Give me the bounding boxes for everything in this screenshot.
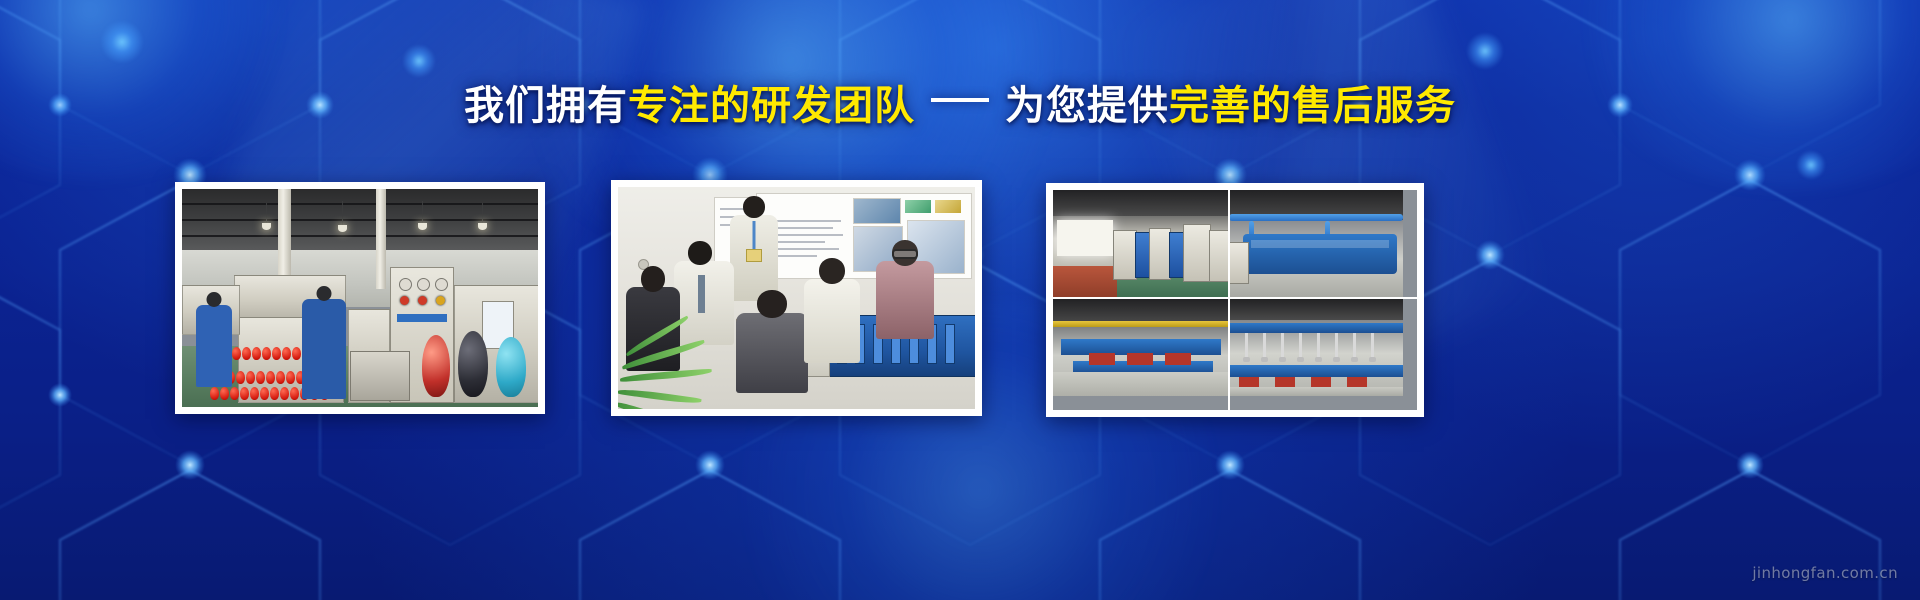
red-part xyxy=(1165,353,1191,365)
foreground-plant xyxy=(618,335,722,409)
worker-left xyxy=(196,305,232,387)
panel-knob-3 xyxy=(435,278,448,291)
spray-nozzle xyxy=(1353,333,1356,359)
panel-button-1 xyxy=(400,296,409,305)
yellow-crane-rail xyxy=(1053,321,1228,327)
roof-beam-3 xyxy=(182,235,538,237)
red-bulb xyxy=(282,347,291,360)
red-bulb xyxy=(286,371,295,384)
red-bulb xyxy=(220,387,229,400)
presenter-person xyxy=(730,215,778,301)
spray-nozzle xyxy=(1371,333,1374,359)
nozzle-head xyxy=(1369,357,1376,362)
red-vase xyxy=(422,335,450,397)
spray-nozzle xyxy=(1317,333,1320,359)
nozzle-head xyxy=(1243,357,1250,362)
support-column-2 xyxy=(376,189,386,289)
spray-nozzle xyxy=(1263,333,1266,359)
seated-person-right xyxy=(804,279,860,363)
red-part xyxy=(1239,377,1259,387)
poster-photo-1 xyxy=(853,198,901,224)
red-bulb xyxy=(252,347,261,360)
ceiling-lamp-3 xyxy=(418,223,427,230)
technical-poster-board xyxy=(756,193,972,279)
concrete-floor xyxy=(1229,387,1403,396)
red-bulb xyxy=(280,387,289,400)
factory-roof xyxy=(182,189,538,254)
collage-divider-horizontal xyxy=(1053,297,1417,299)
red-bulb xyxy=(266,371,275,384)
team-meeting-photo-card[interactable] xyxy=(611,180,982,416)
person-head xyxy=(743,196,765,218)
equipment-segment xyxy=(945,324,955,363)
nozzle-head xyxy=(1279,357,1286,362)
team-meeting-photo xyxy=(618,187,975,409)
seated-person-woman xyxy=(876,261,934,339)
glow-node-b xyxy=(402,44,436,78)
tunnel-highlight xyxy=(1251,240,1389,248)
headline-part-3: 为您提供 xyxy=(1005,78,1169,134)
person-head xyxy=(688,241,712,265)
plant-leaf xyxy=(621,339,706,369)
glow-node-c xyxy=(1466,32,1504,70)
blue-overhead-pipe xyxy=(1229,214,1403,221)
eyeglasses xyxy=(892,249,918,259)
panel-label-strip xyxy=(397,314,447,322)
red-bulb xyxy=(210,387,219,400)
red-bulb xyxy=(250,387,259,400)
red-part xyxy=(1089,353,1115,365)
worker-head xyxy=(317,286,332,301)
nozzle-head xyxy=(1351,357,1358,362)
lamp-wire-2 xyxy=(342,201,343,225)
worker-right xyxy=(302,299,346,399)
spray-nozzle xyxy=(1245,333,1248,359)
id-badge xyxy=(746,249,762,262)
hall-roof xyxy=(1229,299,1403,320)
spray-nozzle xyxy=(1281,333,1284,359)
roof-beam-1 xyxy=(182,203,538,205)
ceiling-lamp-2 xyxy=(338,225,347,232)
panel-knob-2 xyxy=(417,278,430,291)
equipment-cabinet xyxy=(1183,224,1211,282)
red-bulb xyxy=(292,347,301,360)
nozzle-head xyxy=(1261,357,1268,362)
hall-roof xyxy=(1053,190,1228,216)
glow-node-d xyxy=(1796,150,1826,180)
lamp-wire-1 xyxy=(266,203,267,223)
poster-badge-2 xyxy=(935,200,961,213)
poster-badge-1 xyxy=(905,200,931,213)
ceiling-lamp-4 xyxy=(478,223,487,230)
storage-crate xyxy=(350,351,410,401)
panel-knob-1 xyxy=(399,278,412,291)
plant-leaf xyxy=(618,387,702,406)
equipment-cabinet xyxy=(1149,228,1171,280)
side-cabinet xyxy=(1229,242,1249,284)
headline-part-2: 专注的研发团队 xyxy=(628,78,915,134)
necktie xyxy=(698,275,705,313)
red-bulb xyxy=(256,371,265,384)
concrete-floor xyxy=(1053,372,1228,396)
workshop-collage-photo-card[interactable] xyxy=(1046,183,1424,417)
banner-headline: 我们拥有专注的研发团队 为您提供完善的售后服务 xyxy=(0,78,1920,134)
promo-banner: 我们拥有专注的研发团队 为您提供完善的售后服务 xyxy=(0,0,1920,600)
seated-person-center xyxy=(674,261,734,345)
glow-node-a xyxy=(100,20,144,64)
red-bulb xyxy=(260,387,269,400)
site-watermark: jinhongfan.com.cn xyxy=(1752,564,1898,582)
headline-part-1: 我们拥有 xyxy=(464,78,628,134)
person-head xyxy=(819,258,845,284)
red-part xyxy=(1127,353,1153,365)
red-part xyxy=(1275,377,1295,387)
red-bulb xyxy=(232,347,241,360)
collage-cell-top-left xyxy=(1053,190,1228,298)
red-bulb xyxy=(272,347,281,360)
spray-nozzle xyxy=(1299,333,1302,359)
red-bulb xyxy=(276,371,285,384)
headline-dash-separator xyxy=(931,98,989,102)
red-bulb xyxy=(290,387,299,400)
hall-window xyxy=(1057,220,1113,256)
blue-vase xyxy=(496,337,526,397)
red-bulb xyxy=(242,347,251,360)
ceiling-lamp-1 xyxy=(262,223,271,230)
nozzle-head xyxy=(1315,357,1322,362)
person-head xyxy=(641,266,665,292)
lower-conveyor xyxy=(1229,365,1403,377)
nozzle-head xyxy=(1333,357,1340,362)
roof-beam-2 xyxy=(182,219,538,221)
panel-button-3 xyxy=(436,296,445,305)
red-bulb xyxy=(270,387,279,400)
production-line-photo xyxy=(182,189,538,407)
collage-cell-bottom-left xyxy=(1053,299,1228,396)
red-part xyxy=(1311,377,1331,387)
lanyard xyxy=(753,221,756,251)
panel-button-2 xyxy=(418,296,427,305)
lamp-wire-3 xyxy=(422,201,423,223)
collage-cell-bottom-right xyxy=(1229,299,1403,396)
person-head xyxy=(757,290,787,318)
lamp-wire-4 xyxy=(482,203,483,223)
red-bulb xyxy=(262,347,271,360)
red-bulb xyxy=(236,371,245,384)
workshop-collage-photo xyxy=(1053,190,1417,410)
collage-divider-vertical xyxy=(1228,190,1230,410)
red-part xyxy=(1347,377,1367,387)
worker-head xyxy=(207,292,222,307)
spray-nozzle xyxy=(1335,333,1338,359)
plant-leaf xyxy=(620,369,712,382)
collage-cell-top-right xyxy=(1229,190,1403,298)
headline-part-4: 完善的售后服务 xyxy=(1169,78,1456,134)
equipment-cabinet xyxy=(1209,230,1228,282)
seated-person-back xyxy=(736,313,808,393)
red-bulb xyxy=(230,387,239,400)
red-bulb xyxy=(246,371,255,384)
nozzle-head xyxy=(1297,357,1304,362)
black-vase xyxy=(458,331,488,397)
spray-line-beam xyxy=(1229,323,1403,333)
production-line-photo-card[interactable] xyxy=(175,182,545,414)
red-bulb xyxy=(240,387,249,400)
equipment-cabinet xyxy=(1113,230,1137,280)
